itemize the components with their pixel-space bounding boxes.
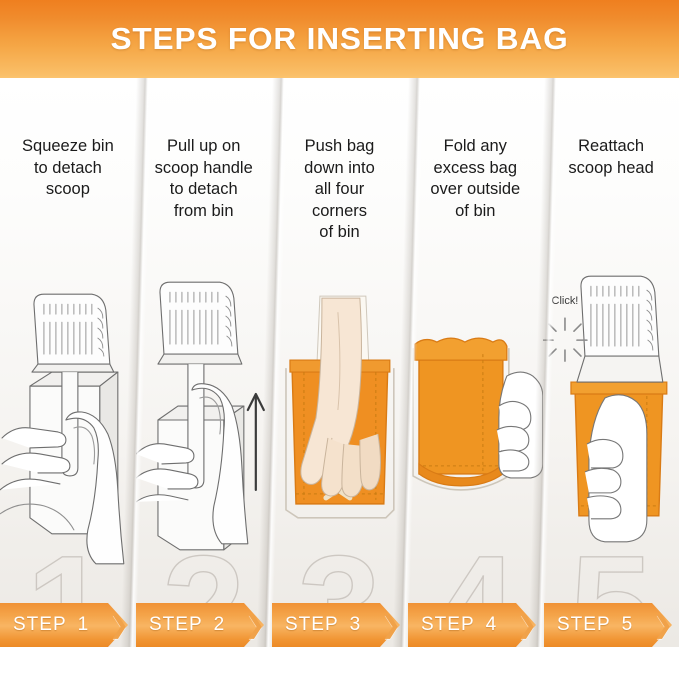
step-tab-label: STEP bbox=[149, 614, 203, 636]
steps-stage: Squeeze bin to detach scoop bbox=[0, 78, 679, 679]
step-tab-label: STEP bbox=[285, 614, 339, 636]
poster-header: STEPS FOR INSERTING BAG bbox=[0, 0, 679, 78]
step-illustration-1 bbox=[0, 268, 136, 568]
chevron-right-icon: ❯ bbox=[514, 603, 540, 647]
poster-footer bbox=[0, 647, 679, 679]
instruction-poster: STEPS FOR INSERTING BAG Squeeze bin to d… bbox=[0, 0, 679, 679]
step-caption-2: Pull up on scoop handle to detach from b… bbox=[136, 136, 272, 222]
step-illustration-2 bbox=[136, 268, 272, 568]
step-illustration-3 bbox=[272, 268, 408, 568]
step-panels: Squeeze bin to detach scoop bbox=[0, 78, 679, 679]
step-tab-number: 4 bbox=[486, 614, 498, 636]
step-panel-1: Squeeze bin to detach scoop bbox=[0, 78, 136, 679]
step-tabs: STEP 1 ❯ STEP 2 ❯ STEP 3 ❯ STEP 4 ❯ STEP… bbox=[0, 603, 679, 647]
step-panel-4: Fold any excess bag over outside of bin bbox=[407, 78, 543, 679]
step-tab-label: STEP bbox=[421, 614, 475, 636]
step-tab-label: STEP bbox=[557, 614, 611, 636]
chevron-right-icon: ❯ bbox=[650, 603, 676, 647]
step-caption-5: Reattach scoop head bbox=[543, 136, 679, 179]
click-annotation: Click! bbox=[552, 295, 579, 307]
step-tab-number: 3 bbox=[350, 614, 362, 636]
step-tab-number: 5 bbox=[622, 614, 634, 636]
page-title: STEPS FOR INSERTING BAG bbox=[111, 21, 569, 57]
step-panel-2: Pull up on scoop handle to detach from b… bbox=[136, 78, 272, 679]
step-panel-3: Push bag down into all four corners of b… bbox=[272, 78, 408, 679]
chevron-right-icon: ❯ bbox=[242, 603, 268, 647]
chevron-right-icon: ❯ bbox=[106, 603, 132, 647]
step-panel-5: Reattach scoop head bbox=[543, 78, 679, 679]
step-tab-label: STEP bbox=[13, 614, 67, 636]
step-illustration-5: Click! bbox=[543, 268, 679, 568]
chevron-right-icon: ❯ bbox=[378, 603, 404, 647]
step-tab-number: 2 bbox=[214, 614, 226, 636]
step-tab-number: 1 bbox=[78, 614, 90, 636]
step-illustration-4 bbox=[407, 268, 543, 568]
step-caption-4: Fold any excess bag over outside of bin bbox=[407, 136, 543, 222]
step-caption-1: Squeeze bin to detach scoop bbox=[0, 136, 136, 201]
step-caption-3: Push bag down into all four corners of b… bbox=[272, 136, 408, 244]
